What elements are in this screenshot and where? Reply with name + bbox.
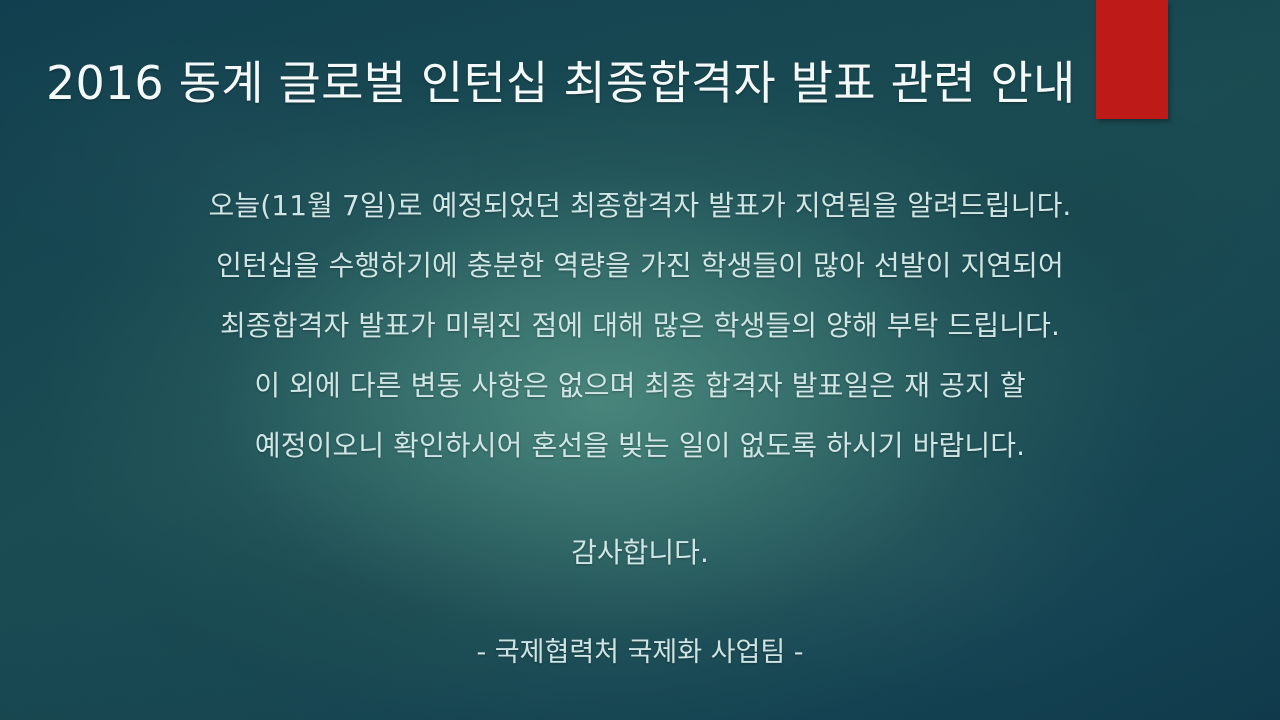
body-line: 오늘(11월 7일)로 예정되었던 최종합격자 발표가 지연됨을 알려드립니다. bbox=[0, 176, 1280, 236]
body-line: 예정이오니 확인하시어 혼선을 빚는 일이 없도록 하시기 바랍니다. bbox=[0, 416, 1280, 476]
signature-text: - 국제협력처 국제화 사업팀 - bbox=[0, 627, 1280, 679]
body-line: 인턴십을 수행하기에 충분한 역량을 가진 학생들이 많아 선발이 지연되어 bbox=[0, 236, 1280, 296]
slide-title: 2016 동계 글로벌 인턴십 최종합격자 발표 관련 안내 bbox=[46, 56, 1086, 110]
slide-body: 오늘(11월 7일)로 예정되었던 최종합격자 발표가 지연됨을 알려드립니다.… bbox=[0, 176, 1280, 476]
presentation-slide: 2016 동계 글로벌 인턴십 최종합격자 발표 관련 안내 오늘(11월 7일… bbox=[0, 0, 1280, 720]
body-line: 최종합격자 발표가 미뤄진 점에 대해 많은 학생들의 양해 부탁 드립니다. bbox=[0, 296, 1280, 356]
slide-closing: 감사합니다. bbox=[0, 525, 1280, 581]
body-line: 이 외에 다른 변동 사항은 없으며 최종 합격자 발표일은 재 공지 할 bbox=[0, 356, 1280, 416]
slide-signature: - 국제협력처 국제화 사업팀 - bbox=[0, 627, 1280, 679]
accent-bar-decoration bbox=[1096, 0, 1168, 119]
closing-text: 감사합니다. bbox=[0, 525, 1280, 581]
